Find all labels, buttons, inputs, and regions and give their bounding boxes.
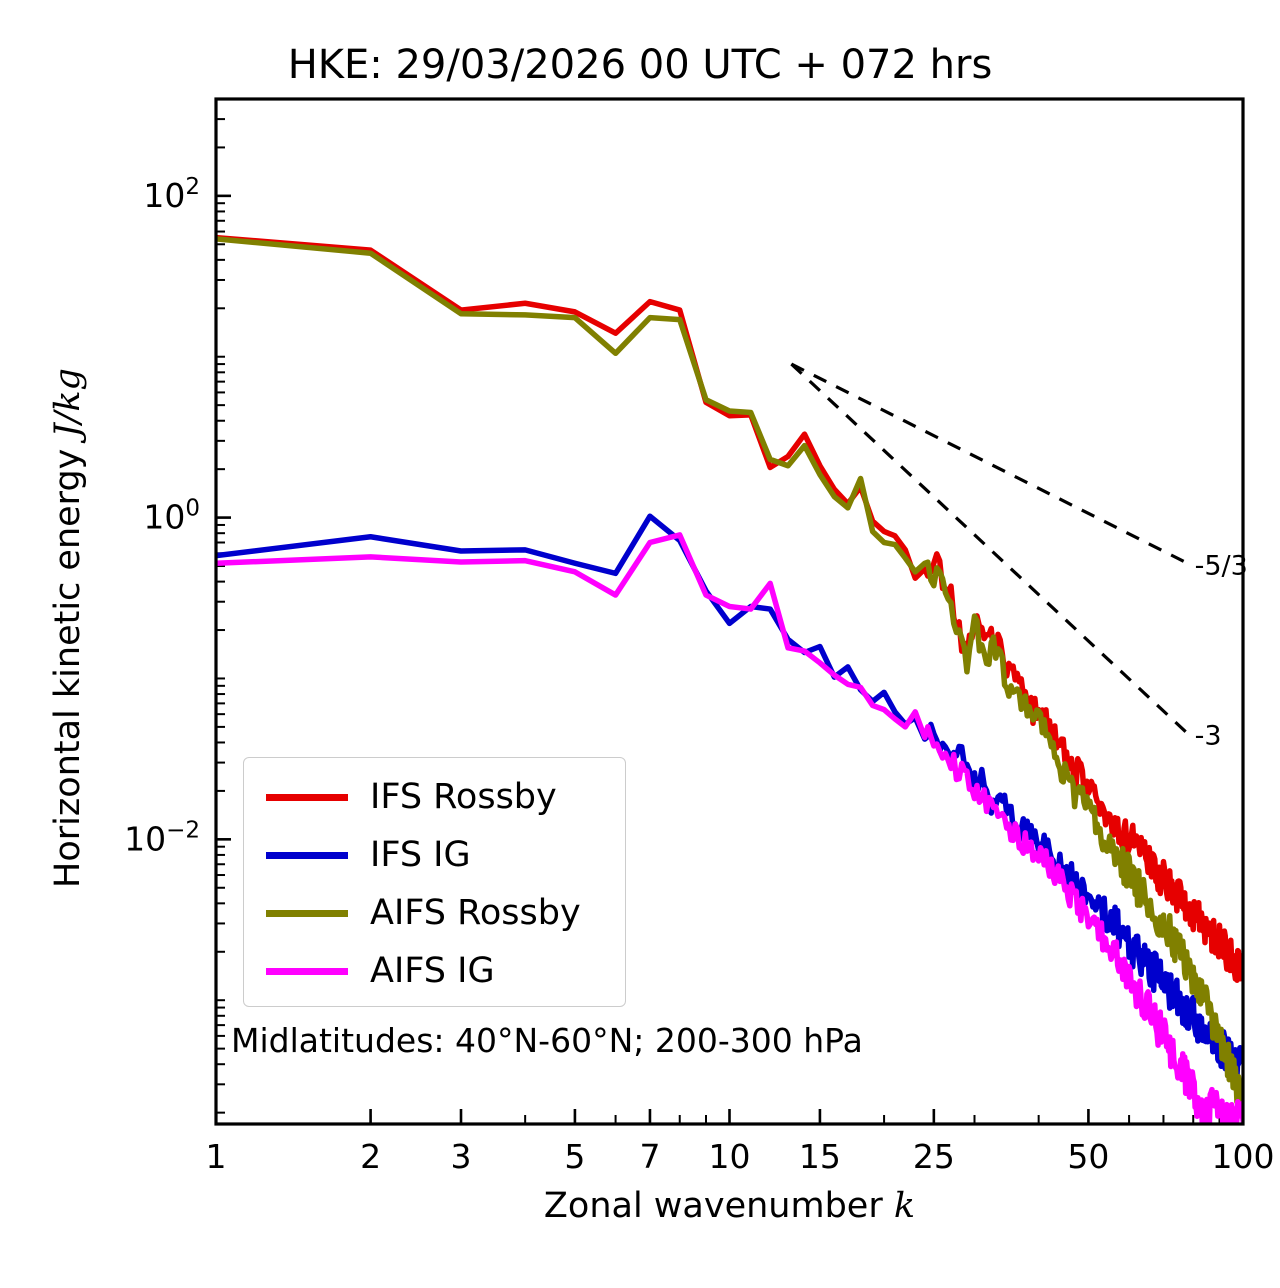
- x-tick-label: 100: [1212, 1137, 1275, 1176]
- legend-color-swatch: [266, 968, 348, 975]
- plot-canvas: 123571015255010010210010−2-5/3-3: [0, 0, 1280, 1288]
- legend: IFS RossbyIFS IGAIFS RossbyAIFS IG: [243, 757, 626, 1007]
- x-tick-label: 10: [709, 1137, 751, 1176]
- legend-item-ifs-rossby[interactable]: IFS Rossby: [244, 768, 627, 826]
- legend-color-swatch: [266, 910, 348, 917]
- legend-color-swatch: [266, 852, 348, 859]
- slope-reference-label-0: -5/3: [1195, 550, 1248, 581]
- x-tick-label: 1: [206, 1137, 227, 1176]
- y-tick-label: 102: [143, 174, 200, 215]
- legend-item-label: AIFS Rossby: [370, 896, 581, 931]
- x-tick-label: 2: [360, 1137, 381, 1176]
- x-tick-label: 25: [913, 1137, 955, 1176]
- legend-item-aifs-ig[interactable]: AIFS IG: [244, 942, 627, 1000]
- legend-item-label: AIFS IG: [370, 954, 495, 989]
- region-annotation: Midlatitudes: 40°N-60°N; 200-300 hPa: [231, 1021, 863, 1060]
- legend-color-swatch: [266, 794, 348, 801]
- y-tick-label: 100: [143, 496, 200, 537]
- legend-item-label: IFS IG: [370, 838, 471, 873]
- legend-item-label: IFS Rossby: [370, 780, 557, 815]
- chart-figure: HKE: 29/03/2026 00 UTC + 072 hrs Horizon…: [0, 0, 1280, 1288]
- slope-reference-label-1: -3: [1195, 720, 1222, 751]
- y-tick-label: 10−2: [124, 817, 200, 858]
- x-tick-label: 5: [564, 1137, 585, 1176]
- legend-item-aifs-rossby[interactable]: AIFS Rossby: [244, 884, 627, 942]
- x-tick-label: 3: [451, 1137, 472, 1176]
- x-tick-label: 15: [799, 1137, 841, 1176]
- x-tick-label: 50: [1067, 1137, 1109, 1176]
- x-tick-label: 7: [639, 1137, 660, 1176]
- legend-item-ifs-ig[interactable]: IFS IG: [244, 826, 627, 884]
